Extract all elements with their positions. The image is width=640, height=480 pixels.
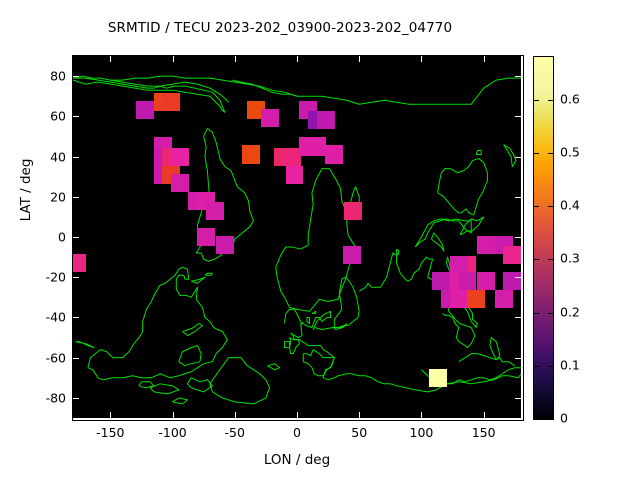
x-axis-tick-label: 50 — [329, 425, 389, 440]
colorbar-tick-mark — [534, 259, 539, 260]
x-axis-tick-mark — [297, 56, 298, 62]
tec-map-figure: SRMTID / TECU 2023-202_03900-2023-202_04… — [0, 0, 640, 480]
data-cell[interactable] — [317, 111, 335, 129]
data-cell[interactable] — [503, 246, 521, 264]
data-cell[interactable] — [197, 228, 215, 246]
data-cell[interactable] — [216, 236, 234, 254]
x-axis-tick-mark — [421, 56, 422, 62]
y-axis-tick-label: -60 — [30, 350, 66, 365]
data-cell[interactable] — [162, 93, 180, 111]
x-axis-tick-mark — [110, 56, 111, 62]
x-axis-tick-mark — [484, 412, 485, 418]
colorbar-tick-mark — [548, 313, 553, 314]
colorbar-gradient — [534, 57, 553, 419]
y-axis-tick-label: -20 — [30, 270, 66, 285]
colorbar-tick-label: 0.1 — [560, 357, 580, 372]
data-cell[interactable] — [286, 166, 304, 184]
map-plot-area[interactable] — [73, 56, 521, 418]
data-cell[interactable] — [171, 174, 189, 192]
x-axis-tick-mark — [173, 412, 174, 418]
x-axis-tick-mark — [297, 412, 298, 418]
colorbar-tick-mark — [548, 153, 553, 154]
colorbar-tick-mark — [548, 206, 553, 207]
y-axis-tick-mark — [515, 398, 521, 399]
x-axis-tick-mark — [173, 56, 174, 62]
data-cell[interactable] — [242, 145, 260, 163]
y-axis-tick-mark — [73, 197, 79, 198]
y-axis-tick-mark — [515, 76, 521, 77]
x-axis-ticks: -150-100-50050100150 — [0, 425, 640, 445]
y-axis-tick-mark — [73, 76, 79, 77]
colorbar-tick-mark — [548, 100, 553, 101]
y-axis-tick-mark — [515, 317, 521, 318]
data-cell[interactable] — [136, 101, 154, 119]
x-axis-tick-mark — [359, 412, 360, 418]
data-cell[interactable] — [450, 290, 468, 308]
y-axis-tick-label: -80 — [30, 390, 66, 405]
data-cell[interactable] — [73, 254, 86, 272]
colorbar-tick-mark — [534, 366, 539, 367]
colorbar-tick-mark — [534, 153, 539, 154]
y-axis-tick-label: -40 — [30, 310, 66, 325]
data-cell[interactable] — [432, 272, 450, 290]
data-cell[interactable] — [467, 290, 485, 308]
data-cell[interactable] — [429, 369, 447, 387]
data-cell[interactable] — [477, 236, 495, 254]
y-axis-tick-mark — [73, 157, 79, 158]
colorbar-tick-mark — [548, 259, 553, 260]
colorbar-tick-mark — [534, 313, 539, 314]
x-axis-tick-label: 150 — [454, 425, 514, 440]
data-cell[interactable] — [206, 202, 224, 220]
x-axis-tick-mark — [110, 412, 111, 418]
colorbar-tick-mark — [534, 100, 539, 101]
data-cell[interactable] — [344, 202, 362, 220]
x-axis-tick-mark — [421, 412, 422, 418]
y-axis-tick-mark — [73, 358, 79, 359]
y-axis-tick-label: 0 — [30, 230, 66, 245]
figure-title: SRMTID / TECU 2023-202_03900-2023-202_04… — [0, 20, 560, 36]
data-cell[interactable] — [495, 290, 513, 308]
y-axis-tick-mark — [73, 398, 79, 399]
y-axis-tick-mark — [515, 197, 521, 198]
data-cell[interactable] — [477, 272, 495, 290]
y-axis-tick-mark — [515, 116, 521, 117]
colorbar-tick-label: 0.4 — [560, 198, 580, 213]
colorbar-tick-mark — [548, 366, 553, 367]
data-cell[interactable] — [325, 145, 343, 163]
data-cell[interactable] — [343, 246, 361, 264]
data-cell[interactable] — [308, 137, 326, 155]
data-cell[interactable] — [261, 109, 279, 127]
x-axis-tick-label: -50 — [205, 425, 265, 440]
y-axis-tick-label: 60 — [30, 109, 66, 124]
data-cell-layer — [73, 56, 521, 418]
x-axis-tick-label: 100 — [391, 425, 451, 440]
colorbar-tick-mark — [534, 206, 539, 207]
y-axis-tick-label: 20 — [30, 189, 66, 204]
y-axis-tick-mark — [515, 358, 521, 359]
x-axis-tick-label: 0 — [267, 425, 327, 440]
y-axis-tick-mark — [515, 157, 521, 158]
y-axis-tick-mark — [515, 277, 521, 278]
colorbar-tick-label: 0.2 — [560, 304, 580, 319]
colorbar-tick-label: 0.6 — [560, 91, 580, 106]
y-axis-tick-label: 40 — [30, 149, 66, 164]
colorbar-tick-label: 0 — [560, 411, 568, 426]
x-axis-label: LON / deg — [73, 452, 521, 468]
colorbar-tick-mark — [548, 419, 553, 420]
data-cell[interactable] — [171, 148, 189, 166]
y-axis-tick-label: 80 — [30, 69, 66, 84]
y-axis-tick-mark — [73, 237, 79, 238]
data-cell[interactable] — [503, 272, 521, 290]
x-axis-tick-mark — [235, 412, 236, 418]
colorbar — [533, 56, 554, 420]
x-axis-tick-label: -100 — [143, 425, 203, 440]
colorbar-tick-label: 0.3 — [560, 251, 580, 266]
x-axis-tick-label: -150 — [80, 425, 140, 440]
colorbar-tick-label: 0.5 — [560, 144, 580, 159]
y-axis-tick-mark — [73, 317, 79, 318]
x-axis-tick-mark — [235, 56, 236, 62]
y-axis-label: LAT / deg — [18, 120, 34, 260]
y-axis-tick-mark — [73, 116, 79, 117]
x-axis-tick-mark — [359, 56, 360, 62]
data-cell[interactable] — [459, 272, 477, 290]
x-axis-tick-mark — [484, 56, 485, 62]
y-axis-tick-mark — [73, 277, 79, 278]
y-axis-tick-mark — [515, 237, 521, 238]
colorbar-tick-mark — [534, 419, 539, 420]
